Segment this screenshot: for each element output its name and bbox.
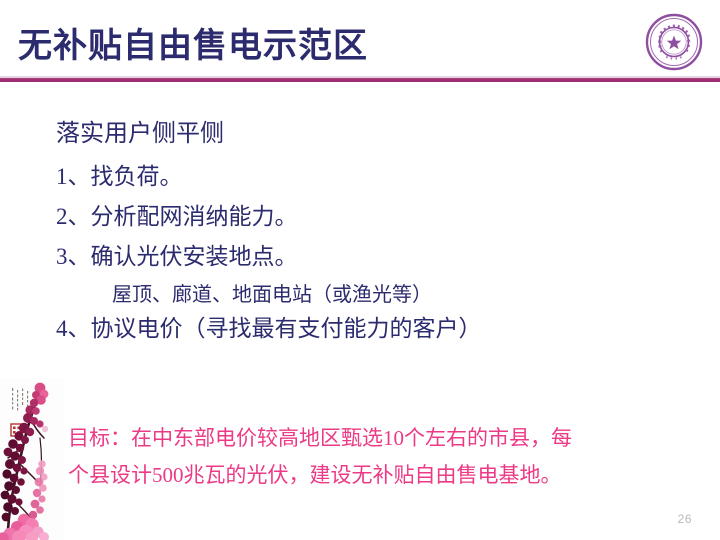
slide-body: 落实用户侧平侧 1、找负荷。 2、分析配网消纳能力。 3、确认光伏安装地点。 屋…: [56, 122, 666, 340]
goal-line: 目标：在中东部电价较高地区甄选10个左右的市县，每: [68, 428, 668, 449]
goal-statement: 目标：在中东部电价较高地区甄选10个左右的市县，每 个县设计500兆瓦的光伏，建…: [68, 428, 668, 486]
body-heading: 落实用户侧平侧: [56, 122, 666, 146]
title-divider: [0, 78, 720, 82]
list-item: 4、协议电价（寻找最有支付能力的客户）: [56, 317, 666, 340]
page-number: 26: [678, 512, 692, 526]
goal-line: 个县设计500兆瓦的光伏，建设无补贴自由售电基地。: [68, 465, 668, 486]
presentation-slide: 无补贴自由售电示范区: [0, 0, 720, 540]
page-title: 无补贴自由售电示范区: [18, 18, 368, 67]
list-item: 1、找负荷。: [56, 165, 666, 188]
list-item: 2、分析配网消纳能力。: [56, 205, 666, 228]
plum-blossom-artwork: [0, 378, 64, 540]
university-seal-logo: [644, 12, 704, 72]
list-item: 3、确认光伏安装地点。: [56, 245, 666, 268]
list-item-sub: 屋顶、廊道、地面电站（或渔光等）: [56, 285, 666, 305]
